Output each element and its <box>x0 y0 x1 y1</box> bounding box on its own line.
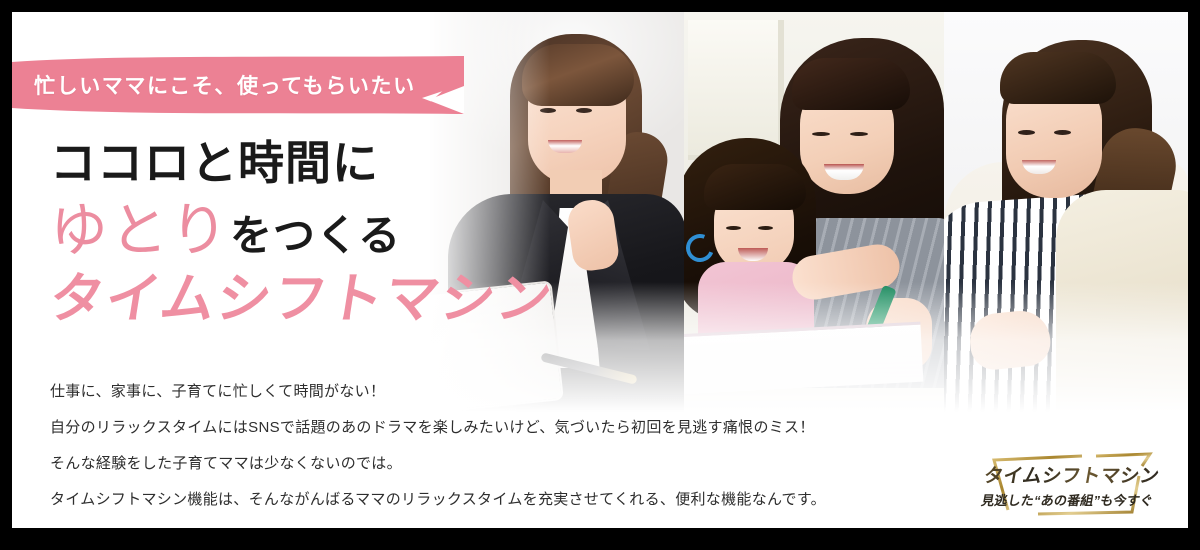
body-line-1: 仕事に、家事に、子育てに忙しくて時間がない！ <box>50 384 826 399</box>
logo-text-group: タイムシフトマシン 見逃した“あの番組”も今すぐ <box>958 450 1182 520</box>
ribbon-text: 忙しいママにこそ、使ってもらいたい <box>34 56 416 114</box>
headline-line-2: ゆとりをつくる <box>50 202 553 260</box>
headline-line-2-plain: をつくる <box>230 212 401 259</box>
promo-banner: 忙しいママにこそ、使ってもらいたい ココロと時間に ゆとりをつくる タイムシフト… <box>12 12 1188 528</box>
body-copy: 仕事に、家事に、子育てに忙しくて時間がない！ 自分のリラックスタイムにはSNSで… <box>50 384 826 507</box>
headline-accent-word: ゆとり <box>50 198 230 263</box>
logo-sub-text: 見逃した“あの番組”も今すぐ <box>980 490 1155 509</box>
body-line-4: タイムシフトマシン機能は、そんながんばるママのリラックスタイムを充実させてくれる… <box>50 492 826 507</box>
timeshift-machine-logo: タイムシフトマシン 見逃した“あの番組”も今すぐ <box>964 450 1176 520</box>
headline-line-1: ココロと時間に <box>50 140 553 186</box>
headline-line-3: タイムシフトマシン <box>46 272 557 326</box>
logo-main-text: タイムシフトマシン <box>982 461 1162 488</box>
photo-woman-relaxing-sofa <box>944 12 1188 412</box>
photo-mother-daughter-study <box>684 12 944 412</box>
ribbon-banner: 忙しいママにこそ、使ってもらいたい <box>12 56 464 114</box>
headline-group: ココロと時間に ゆとりをつくる タイムシフトマシン <box>50 140 553 326</box>
body-line-3: そんな経験をした子育てママは少なくないのでは。 <box>50 456 826 471</box>
body-line-2: 自分のリラックスタイムにはSNSで話題のあのドラマを楽しみたいけど、気づいたら初… <box>50 420 826 435</box>
